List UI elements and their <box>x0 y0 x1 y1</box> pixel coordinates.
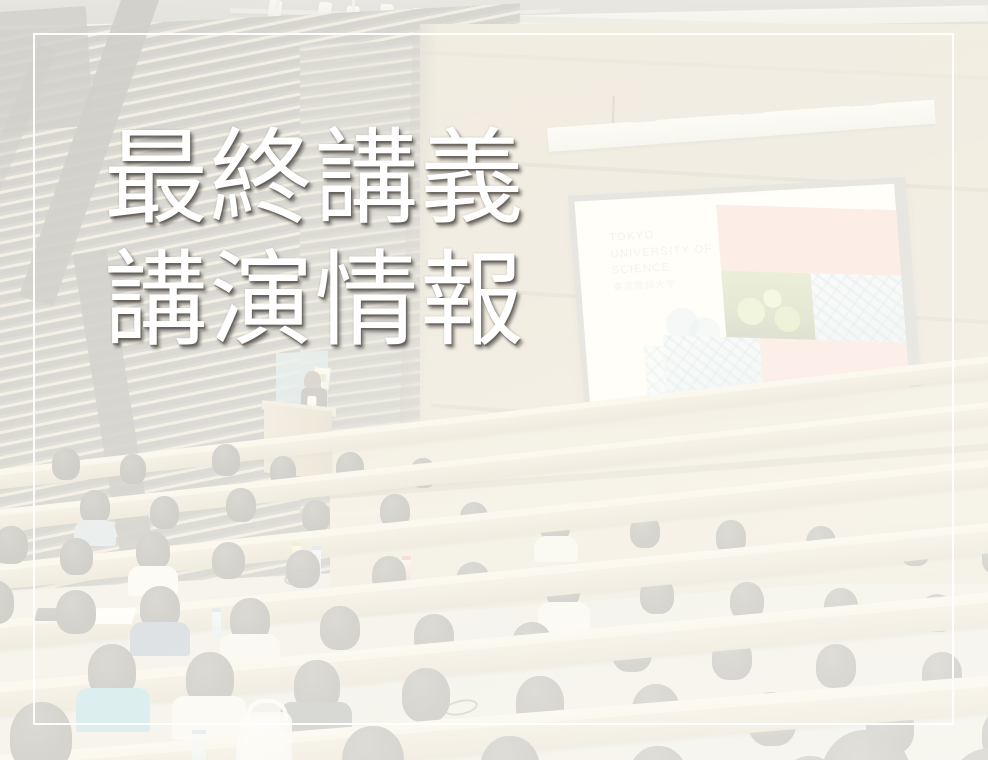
audience-head <box>212 444 240 476</box>
housing-clip <box>631 117 657 123</box>
audience-seating <box>0 430 988 760</box>
audience-head <box>402 668 450 722</box>
slide-cell-plant-photo <box>721 271 816 340</box>
audience-head <box>120 454 146 484</box>
audience-head <box>136 532 170 570</box>
slide-cell-lab-photo <box>811 273 912 342</box>
slide-line-science: SCIENCE <box>611 262 671 277</box>
plastic-bag <box>236 712 292 760</box>
audience-head <box>212 542 245 579</box>
audience-head <box>302 500 330 532</box>
housing-clip <box>850 101 876 107</box>
audience-body <box>130 622 190 656</box>
audience-head <box>60 538 93 575</box>
audience-head <box>52 448 80 480</box>
audience-head <box>628 746 688 760</box>
slide-title-text: TOKYOUNIVERSITY OFSCIENCE東京理科大学 <box>609 224 716 296</box>
headline-line-1: 最終講義 <box>104 118 525 240</box>
drink-bottle <box>192 730 206 760</box>
audience-body <box>534 536 578 562</box>
audience-head <box>56 590 96 634</box>
slide-cell-salmon <box>716 204 829 274</box>
slide-line-tokyo: TOKYO <box>609 230 655 244</box>
audience-head <box>0 526 28 564</box>
audience-head <box>10 702 72 760</box>
audience-head <box>816 644 856 688</box>
audience-head <box>946 748 988 760</box>
lecture-hall-photo: TOKYOUNIVERSITY OFSCIENCE東京理科大学 <box>0 0 988 760</box>
audience-body <box>172 696 246 740</box>
paper-sheet <box>90 608 137 624</box>
audience-head <box>80 490 110 524</box>
housing-clip <box>738 109 764 115</box>
audience-head <box>226 488 256 522</box>
audience-body <box>76 688 150 732</box>
drink-bottle <box>212 608 221 638</box>
audience-head <box>320 606 360 650</box>
audience-head <box>150 496 179 529</box>
slide-cell-salmon <box>824 208 907 277</box>
wall-seam <box>420 50 988 81</box>
headline-line-2: 講演情報 <box>104 240 525 362</box>
slide-line-japanese: 東京理科大学 <box>613 279 677 293</box>
slide-line-university: UNIVERSITY OF <box>610 243 713 261</box>
lecture-banner: TOKYOUNIVERSITY OFSCIENCE東京理科大学 <box>0 0 988 760</box>
banner-headline: 最終講義 講演情報 <box>104 118 525 361</box>
